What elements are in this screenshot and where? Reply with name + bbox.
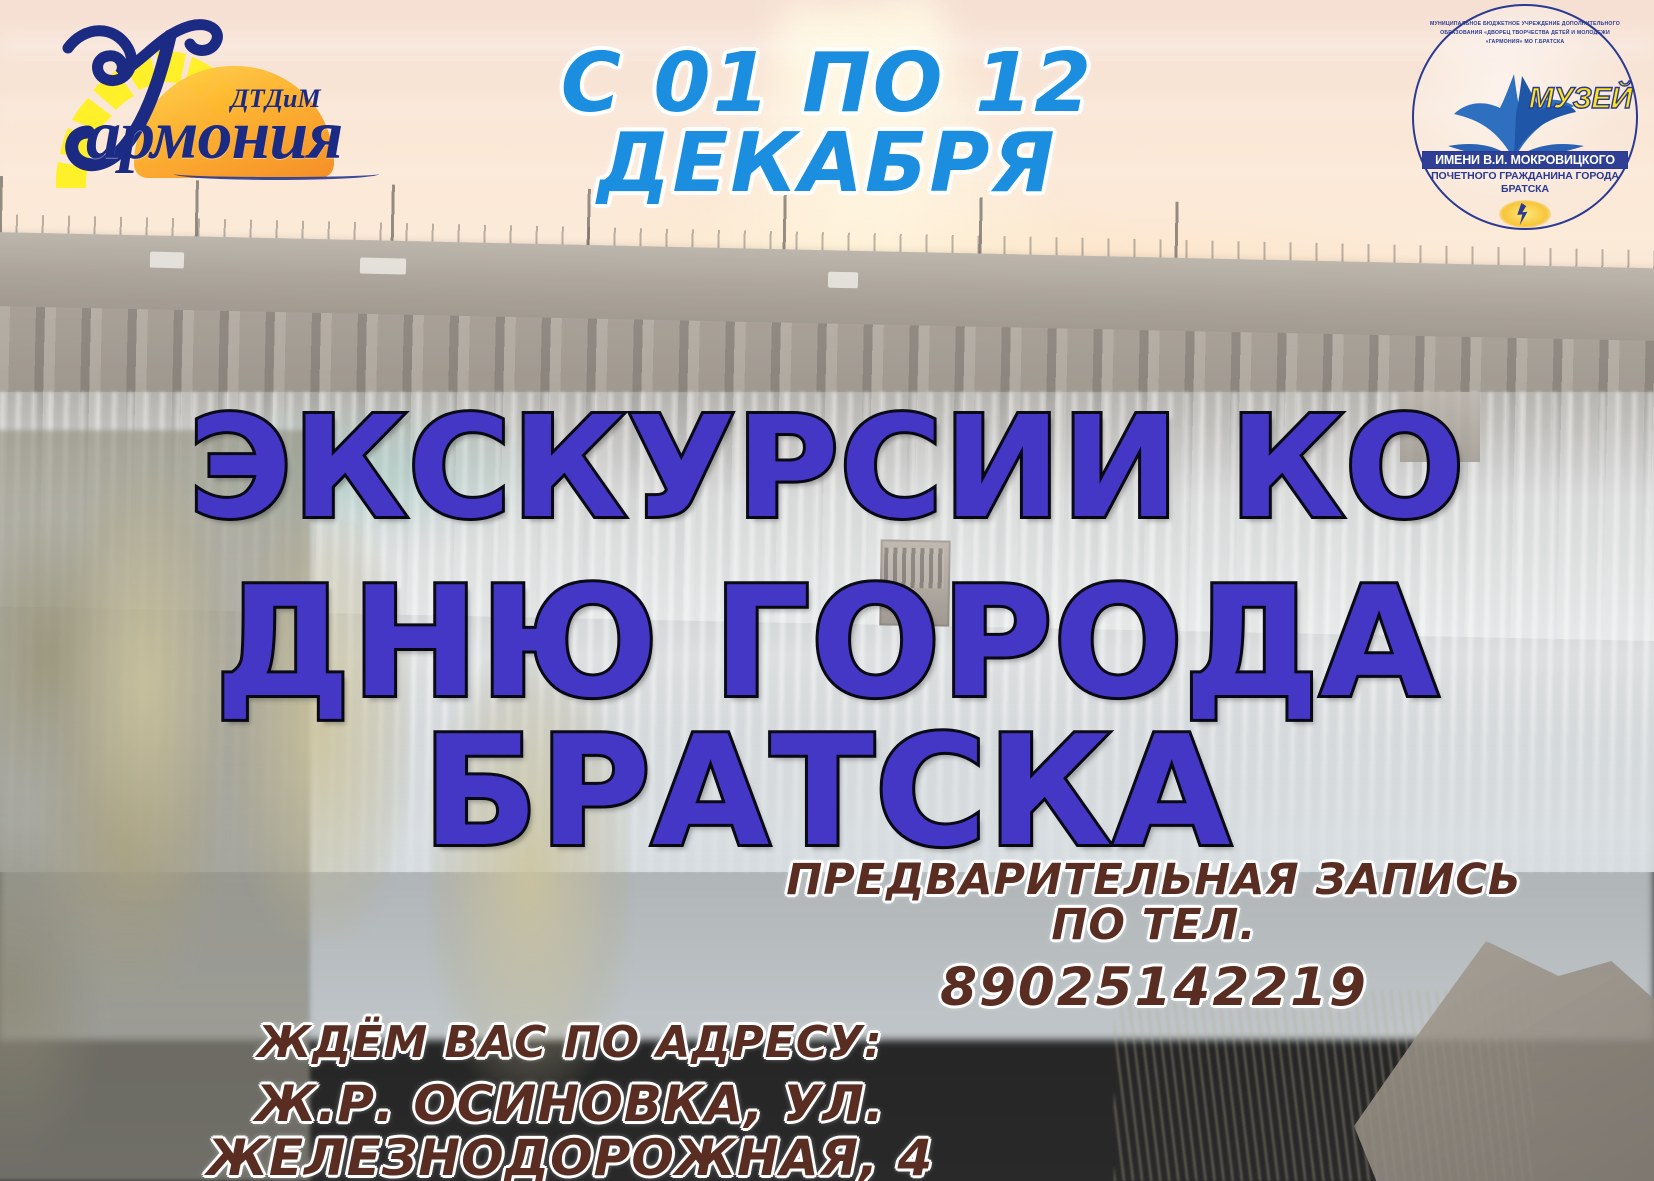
event-date: С 01 ПО 12 ДЕКАБРЯ (0, 44, 1654, 205)
address-info: ЖДЁМ ВАС ПО АДРЕСУ: Ж.Р. ОСИНОВКА, УЛ. Ж… (40, 1019, 1100, 1181)
address-value: Ж.Р. ОСИНОВКА, УЛ. ЖЕЛЕЗНОДОРОЖНАЯ, 4 (40, 1077, 1100, 1181)
event-poster: ДТДиМ армония МУНИЦИПАЛЬНОЕ БЮДЖЕТНОЕ УЧ… (0, 0, 1654, 1181)
booking-phone-number[interactable]: 89025142219 (774, 960, 1534, 1016)
truck-on-dam (150, 252, 184, 269)
seal-org-text: МУНИЦИПАЛЬНОЕ БЮДЖЕТНОЕ УЧРЕЖДЕНИЕ ДОПОЛ… (1430, 20, 1620, 47)
date-line-2: ДЕКАБРЯ (0, 124, 1654, 204)
booking-info: ПРЕДВАРИТЕЛЬНАЯ ЗАПИСЬ ПО ТЕЛ. 890251422… (774, 858, 1534, 1016)
booking-label: ПРЕДВАРИТЕЛЬНАЯ ЗАПИСЬ ПО ТЕЛ. (774, 858, 1534, 948)
poster-headline: ЭКСКУРСИИ КО ДНЮ ГОРОДА БРАТСКА (0, 400, 1654, 867)
headline-line-2: ДНЮ ГОРОДА БРАТСКА (0, 569, 1654, 867)
truck-on-dam (360, 257, 406, 274)
headline-line-1: ЭКСКУРСИИ КО (0, 400, 1654, 537)
address-label: ЖДЁМ ВАС ПО АДРЕСУ: (40, 1019, 1100, 1067)
truck-on-dam (828, 272, 858, 289)
